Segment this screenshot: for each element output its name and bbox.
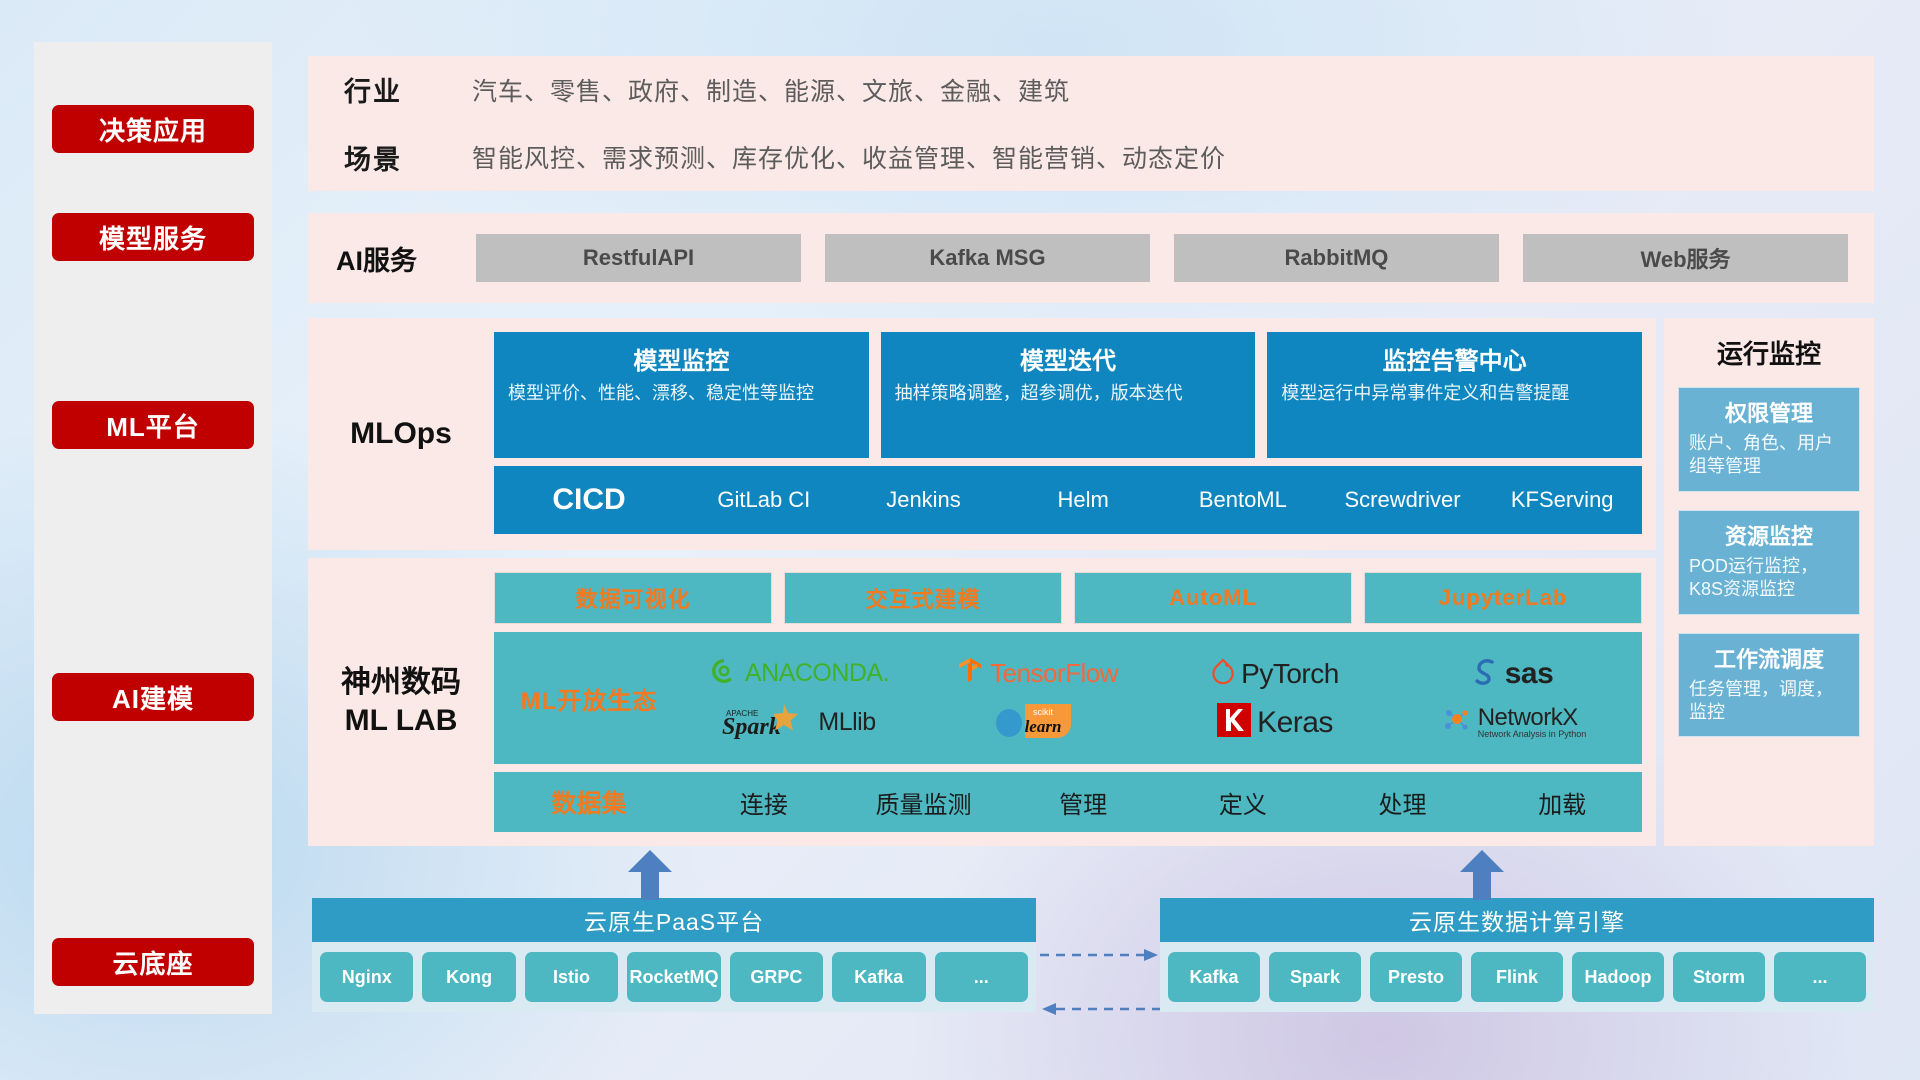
logo-label: MLlib xyxy=(818,708,875,737)
tool-box-jupyterlab[interactable]: JupyterLab xyxy=(1364,572,1642,624)
mlops-panel: MLOps 模型监控 模型评价、性能、漂移、稳定性等监控 模型迭代 抽样策略调整… xyxy=(308,318,1656,550)
dataset-item-quality[interactable]: 质量监测 xyxy=(844,785,1004,820)
cloud-chip-storm[interactable]: Storm xyxy=(1673,952,1765,1002)
industry-row: 行业 汽车、零售、政府、制造、能源、文旅、金融、建筑 xyxy=(308,56,1874,124)
cloud-chip-rocketmq[interactable]: RocketMQ xyxy=(627,952,720,1002)
cloud-chip-more[interactable]: ... xyxy=(935,952,1028,1002)
cloud-chip-more2[interactable]: ... xyxy=(1774,952,1866,1002)
logo-label: Keras xyxy=(1257,706,1333,740)
mlops-card-model-iteration[interactable]: 模型迭代 抽样策略调整，超参调优，版本迭代 xyxy=(881,332,1256,458)
cloud-chip-flink[interactable]: Flink xyxy=(1471,952,1563,1002)
up-arrow-icon-paas xyxy=(628,850,672,900)
scenario-label: 场景 xyxy=(344,138,472,177)
mlops-card-model-monitoring[interactable]: 模型监控 模型评价、性能、漂移、稳定性等监控 xyxy=(494,332,869,458)
tool-box-automl[interactable]: AutoML xyxy=(1074,572,1352,624)
card-desc: 任务管理，调度，监控 xyxy=(1689,678,1849,725)
dataset-item-group: 连接 质量监测 管理 定义 处理 加载 xyxy=(684,785,1642,820)
cloud-chip-nginx[interactable]: Nginx xyxy=(320,952,413,1002)
logo-label: PyTorch xyxy=(1241,658,1339,690)
card-title: 模型迭代 xyxy=(895,341,1242,376)
ml-lab-label-line1: 神州数码 xyxy=(341,664,461,702)
cicd-item-screwdriver[interactable]: Screwdriver xyxy=(1323,488,1483,511)
mlops-card-alert-center[interactable]: 监控告警中心 模型运行中异常事件定义和告警提醒 xyxy=(1267,332,1642,458)
service-box-restfulapi[interactable]: RestfulAPI xyxy=(476,234,801,282)
rail-item-ml-platform[interactable]: ML平台 xyxy=(52,401,254,449)
ml-lab-label: 神州数码 ML LAB xyxy=(308,558,494,846)
logo-networkx: NetworkX Network Analysis in Python xyxy=(1440,704,1587,741)
ai-service-panel: AI服务 RestfulAPI Kafka MSG RabbitMQ Web服务 xyxy=(308,213,1874,303)
logo-anaconda: ANACONDA. xyxy=(709,656,889,691)
cloud-chip-presto[interactable]: Presto xyxy=(1370,952,1462,1002)
logo-sas: sas xyxy=(1473,657,1554,691)
cicd-item-bentoml[interactable]: BentoML xyxy=(1163,488,1323,511)
card-title: 监控告警中心 xyxy=(1281,341,1628,376)
dataset-row: 数据集 连接 质量监测 管理 定义 处理 加载 xyxy=(494,772,1642,832)
dataset-item-define[interactable]: 定义 xyxy=(1163,785,1323,820)
ml-lab-label-line2: ML LAB xyxy=(341,702,461,740)
logo-scikit-learn: scikit learn xyxy=(991,698,1083,747)
cloud-paas-title: 云原生PaaS平台 xyxy=(312,898,1036,942)
logo-label: TensorFlow xyxy=(990,658,1118,689)
run-monitor-panel: 运行监控 权限管理 账户、角色、用户组等管理 资源监控 POD运行监控，K8S资… xyxy=(1664,318,1874,846)
cloud-chip-spark[interactable]: Spark xyxy=(1269,952,1361,1002)
industry-label: 行业 xyxy=(344,70,472,109)
service-box-rabbitmq[interactable]: RabbitMQ xyxy=(1174,234,1499,282)
ai-service-box-group: RestfulAPI Kafka MSG RabbitMQ Web服务 xyxy=(476,234,1874,282)
card-desc: 账户、角色、用户组等管理 xyxy=(1689,432,1849,479)
tensorflow-icon xyxy=(956,656,984,691)
cloud-compute-group: 云原生数据计算引擎 Kafka Spark Presto Flink Hadoo… xyxy=(1160,898,1874,1012)
logo-keras: Keras xyxy=(1217,703,1333,742)
cloud-compute-chip-group: Kafka Spark Presto Flink Hadoop Storm ..… xyxy=(1160,942,1874,1012)
mlops-body: 模型监控 模型评价、性能、漂移、稳定性等监控 模型迭代 抽样策略调整，超参调优，… xyxy=(494,318,1656,550)
spark-icon: APACHE Spark xyxy=(722,700,812,745)
networkx-icon xyxy=(1440,704,1472,741)
scenario-row: 场景 智能风控、需求预测、库存优化、收益管理、智能营销、动态定价 xyxy=(308,124,1874,192)
tool-box-interactive-modeling[interactable]: 交互式建模 xyxy=(784,572,1062,624)
layer-rail: 决策应用 模型服务 ML平台 AI建模 云底座 xyxy=(34,42,272,1014)
cloud-chip-istio[interactable]: Istio xyxy=(525,952,618,1002)
industry-value: 汽车、零售、政府、制造、能源、文旅、金融、建筑 xyxy=(472,72,1070,108)
mlops-label: MLOps xyxy=(308,318,494,550)
logo-sublabel: Network Analysis in Python xyxy=(1478,730,1587,739)
cicd-item-jenkins[interactable]: Jenkins xyxy=(844,488,1004,511)
svg-text:learn: learn xyxy=(1025,717,1062,736)
logo-label: NetworkX xyxy=(1478,706,1587,730)
ml-tool-group: 数据可视化 交互式建模 AutoML JupyterLab xyxy=(494,572,1642,624)
rail-item-ai-modeling[interactable]: AI建模 xyxy=(52,673,254,721)
keras-icon xyxy=(1217,703,1251,742)
dataset-item-manage[interactable]: 管理 xyxy=(1003,785,1163,820)
cicd-item-helm[interactable]: Helm xyxy=(1003,488,1163,511)
connector-arrow-left-icon xyxy=(1040,1002,1160,1021)
tool-box-data-visualization[interactable]: 数据可视化 xyxy=(494,572,772,624)
card-desc: 模型运行中异常事件定义和告警提醒 xyxy=(1281,382,1628,406)
ai-service-label: AI服务 xyxy=(308,239,476,278)
dataset-item-connect[interactable]: 连接 xyxy=(684,785,844,820)
cicd-item-group: GitLab CI Jenkins Helm BentoML Screwdriv… xyxy=(684,488,1642,511)
decision-app-panel: 行业 汽车、零售、政府、制造、能源、文旅、金融、建筑 场景 智能风控、需求预测、… xyxy=(308,56,1874,191)
service-box-kafka-msg[interactable]: Kafka MSG xyxy=(825,234,1150,282)
service-box-web[interactable]: Web服务 xyxy=(1523,234,1848,282)
card-title: 模型监控 xyxy=(508,341,855,376)
cloud-chip-kafka2[interactable]: Kafka xyxy=(1168,952,1260,1002)
sas-icon xyxy=(1473,657,1499,690)
cicd-title: CICD xyxy=(494,483,684,517)
cloud-chip-kong[interactable]: Kong xyxy=(422,952,515,1002)
anaconda-icon xyxy=(709,656,739,691)
pytorch-icon xyxy=(1211,657,1235,690)
monitor-card-permission[interactable]: 权限管理 账户、角色、用户组等管理 xyxy=(1678,387,1860,492)
svg-text:Spark: Spark xyxy=(722,714,781,740)
dataset-title: 数据集 xyxy=(494,784,684,820)
cicd-item-gitlab-ci[interactable]: GitLab CI xyxy=(684,488,844,511)
cicd-bar: CICD GitLab CI Jenkins Helm BentoML Scre… xyxy=(494,466,1642,534)
cicd-item-kfserving[interactable]: KFServing xyxy=(1482,488,1642,511)
scenario-value: 智能风控、需求预测、库存优化、收益管理、智能营销、动态定价 xyxy=(472,139,1226,175)
rail-item-cloud-base[interactable]: 云底座 xyxy=(52,938,254,986)
card-title: 工作流调度 xyxy=(1689,642,1849,674)
cloud-paas-group: 云原生PaaS平台 Nginx Kong Istio RocketMQ GRPC… xyxy=(312,898,1036,1012)
cloud-chip-kafka[interactable]: Kafka xyxy=(832,952,925,1002)
monitor-card-workflow[interactable]: 工作流调度 任务管理，调度，监控 xyxy=(1678,633,1860,738)
card-desc: 抽样策略调整，超参调优，版本迭代 xyxy=(895,382,1242,406)
cloud-paas-chip-group: Nginx Kong Istio RocketMQ GRPC Kafka ... xyxy=(312,942,1036,1012)
card-title: 资源监控 xyxy=(1689,519,1849,551)
cloud-chip-hadoop[interactable]: Hadoop xyxy=(1572,952,1664,1002)
logo-tensorflow: TensorFlow xyxy=(956,656,1118,691)
card-title: 权限管理 xyxy=(1689,396,1849,428)
card-desc: POD运行监控，K8S资源监控 xyxy=(1689,555,1849,602)
scikit-learn-icon: scikit learn xyxy=(991,698,1083,747)
logo-spark-mllib: APACHE Spark MLlib xyxy=(722,700,875,745)
logo-label: ANACONDA. xyxy=(745,659,889,688)
mlops-card-group: 模型监控 模型评价、性能、漂移、稳定性等监控 模型迭代 抽样策略调整，超参调优，… xyxy=(494,332,1642,458)
rail-item-model-service[interactable]: 模型服务 xyxy=(52,213,254,261)
ml-lab-panel: 神州数码 ML LAB 数据可视化 交互式建模 AutoML JupyterLa… xyxy=(308,558,1656,846)
dataset-item-load[interactable]: 加载 xyxy=(1482,785,1642,820)
connector-arrow-right-icon xyxy=(1040,948,1160,967)
ml-ecosystem-label: ML开放生态 xyxy=(504,681,674,716)
logo-pytorch: PyTorch xyxy=(1211,657,1339,690)
ml-ecosystem-logo-group: ANACONDA. TensorFlow PyTorch xyxy=(680,649,1632,747)
card-desc: 模型评价、性能、漂移、稳定性等监控 xyxy=(508,382,855,406)
logo-label: sas xyxy=(1505,657,1554,691)
run-monitor-title: 运行监控 xyxy=(1678,334,1860,371)
monitor-card-resource[interactable]: 资源监控 POD运行监控，K8S资源监控 xyxy=(1678,510,1860,615)
ml-ecosystem-row: ML开放生态 ANACONDA. TensorFlow xyxy=(494,632,1642,765)
dataset-item-process[interactable]: 处理 xyxy=(1323,785,1483,820)
cloud-chip-grpc[interactable]: GRPC xyxy=(730,952,823,1002)
cloud-compute-title: 云原生数据计算引擎 xyxy=(1160,898,1874,942)
svg-text:scikit: scikit xyxy=(1033,707,1053,717)
up-arrow-icon-compute xyxy=(1460,850,1504,900)
rail-item-decision-app[interactable]: 决策应用 xyxy=(52,105,254,153)
ml-lab-body: 数据可视化 交互式建模 AutoML JupyterLab ML开放生态 ANA… xyxy=(494,558,1656,846)
